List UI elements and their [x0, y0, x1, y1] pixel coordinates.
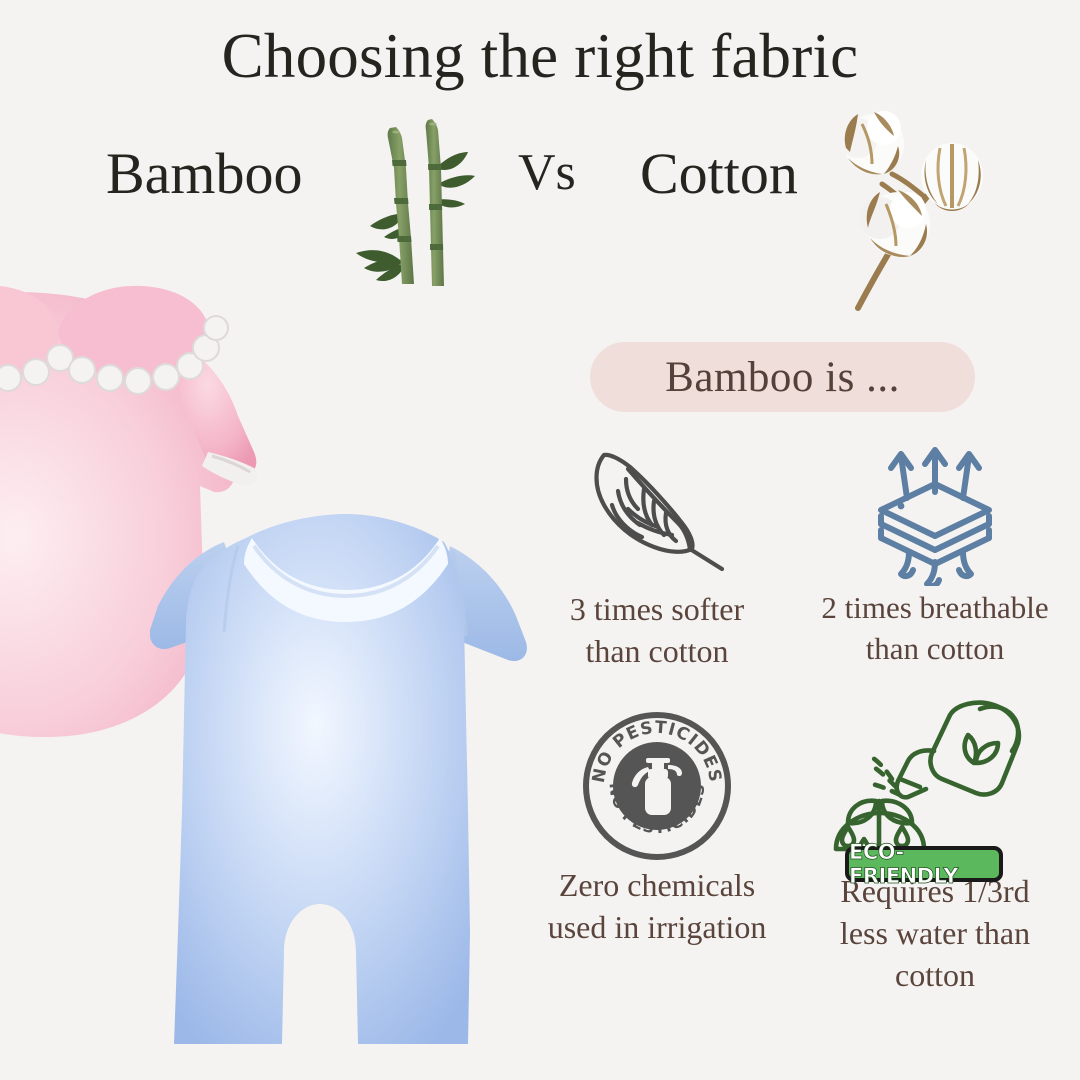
feature-label-no-pesticides-line2: used in irrigation — [524, 906, 790, 948]
feature-label-breathability: 2 times breathable than cotton — [800, 588, 1070, 670]
infographic-canvas: Choosing the right fabric Bamboo Vs Cott… — [0, 0, 1080, 1080]
feature-label-water-usage-line2: less water than — [802, 912, 1068, 954]
comparison-label-bamboo: Bamboo — [106, 140, 303, 207]
eco-friendly-badge-label: ECO-FRIENDLY — [849, 840, 999, 888]
section-badge-label: Bamboo is ... — [665, 353, 900, 402]
feature-label-softness-line2: than cotton — [524, 630, 790, 672]
feature-label-softness: 3 times softer than cotton — [522, 588, 792, 672]
page-title: Choosing the right fabric — [0, 22, 1080, 91]
feather-icon — [582, 443, 732, 583]
feature-label-breathability-line1: 2 times breathable — [802, 588, 1068, 629]
cotton-branch-illustration — [822, 102, 1062, 317]
no-pesticides-badge-icon-wrap: NO PESTICIDES NO PESTICIDES — [522, 706, 792, 866]
features-grid: 3 times softer than cotton — [522, 438, 1080, 1058]
section-badge: Bamboo is ... — [590, 342, 975, 412]
feature-label-no-pesticides: Zero chemicals used in irrigation — [522, 864, 792, 948]
comparison-label-vs: Vs — [518, 143, 576, 202]
feature-label-no-pesticides-line1: Zero chemicals — [524, 864, 790, 906]
feature-label-softness-line1: 3 times softer — [524, 588, 790, 630]
feature-item-softness: 3 times softer than cotton — [522, 438, 792, 672]
feather-icon-wrap — [522, 438, 792, 588]
breathable-fabric-layers-icon — [861, 440, 1009, 586]
feature-item-no-pesticides: NO PESTICIDES NO PESTICIDES — [522, 706, 792, 948]
feature-label-breathability-line2: than cotton — [802, 629, 1068, 670]
feature-label-water-usage: Requires 1/3rd less water than cotton — [800, 870, 1070, 997]
feature-item-breathability: 2 times breathable than cotton — [800, 438, 1070, 670]
no-pesticides-badge-icon: NO PESTICIDES NO PESTICIDES — [582, 711, 732, 861]
feature-label-water-usage-line3: cotton — [802, 954, 1068, 996]
breathable-fabric-layers-icon-wrap — [800, 438, 1070, 588]
bamboo-stalks-illustration — [344, 108, 480, 293]
comparison-label-cotton: Cotton — [640, 140, 798, 207]
eco-friendly-badge: ECO-FRIENDLY — [845, 846, 1003, 882]
blue-baby-romper-illustration — [150, 512, 540, 1052]
